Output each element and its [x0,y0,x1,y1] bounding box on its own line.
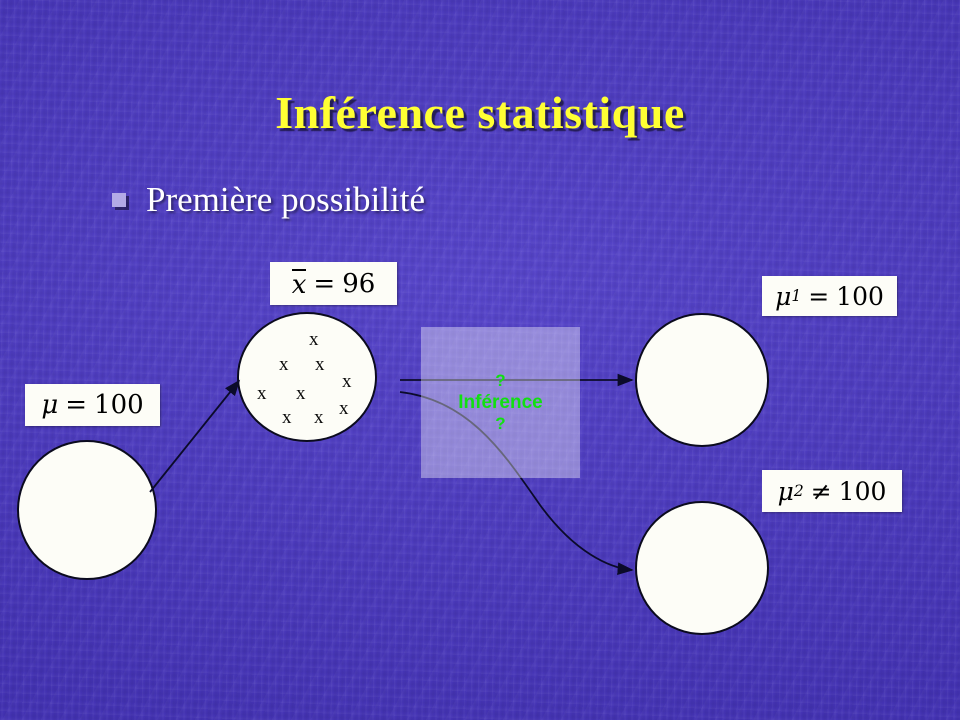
inference-question-bottom: ? [495,414,505,434]
arrow-population-to-sample [150,381,239,492]
inference-label: Inférence [458,391,542,415]
population-mean-operator: = [65,390,87,420]
hypothesis-2-subscript: 2 [794,482,804,500]
bullet-item-label: Première possibilité [146,180,425,220]
observation-mark: x [257,384,267,403]
formula-hypothesis-1: μ1 = 100 [762,276,897,316]
population-circle [17,440,157,580]
hypothesis-1-variable: μ [775,282,791,311]
formula-population-mean: μ = 100 [25,384,160,426]
conclusion-2-circle [635,501,769,635]
square-bullet-icon [112,193,126,207]
hypothesis-2-value: 100 [839,477,887,506]
hypothesis-1-operator: = [808,282,829,311]
conclusion-1-circle [635,313,769,447]
sample-mean-value: 96 [342,269,375,299]
hypothesis-1-subscript: 1 [791,287,801,305]
inference-question-top: ? [495,371,505,391]
sample-mean-operator: = [313,269,335,299]
observation-mark: x [314,408,324,427]
population-mean-value: 100 [94,390,144,420]
page-title: Inférence statistique [0,86,960,139]
population-mean-variable: μ [41,390,58,420]
sample-mean-variable: x [292,269,307,298]
slide-canvas: Inférence statistique Première possibili… [0,0,960,720]
observation-mark: x [339,399,349,418]
inference-box: ? Inférence ? [421,327,580,478]
formula-hypothesis-2: μ2 ≠ 100 [762,470,902,512]
observation-mark: x [315,355,325,374]
hypothesis-2-operator: ≠ [811,477,832,506]
observation-mark: x [342,372,352,391]
sample-circle: xxxxxxxxx [237,312,377,442]
observation-mark: x [296,384,306,403]
observation-mark: x [309,330,319,349]
hypothesis-2-variable: μ [778,477,794,506]
formula-sample-mean: x = 96 [270,262,397,305]
bullet-list-item: Première possibilité [112,180,425,220]
observation-mark: x [282,408,292,427]
hypothesis-1-value: 100 [836,282,884,311]
observation-mark: x [279,355,289,374]
